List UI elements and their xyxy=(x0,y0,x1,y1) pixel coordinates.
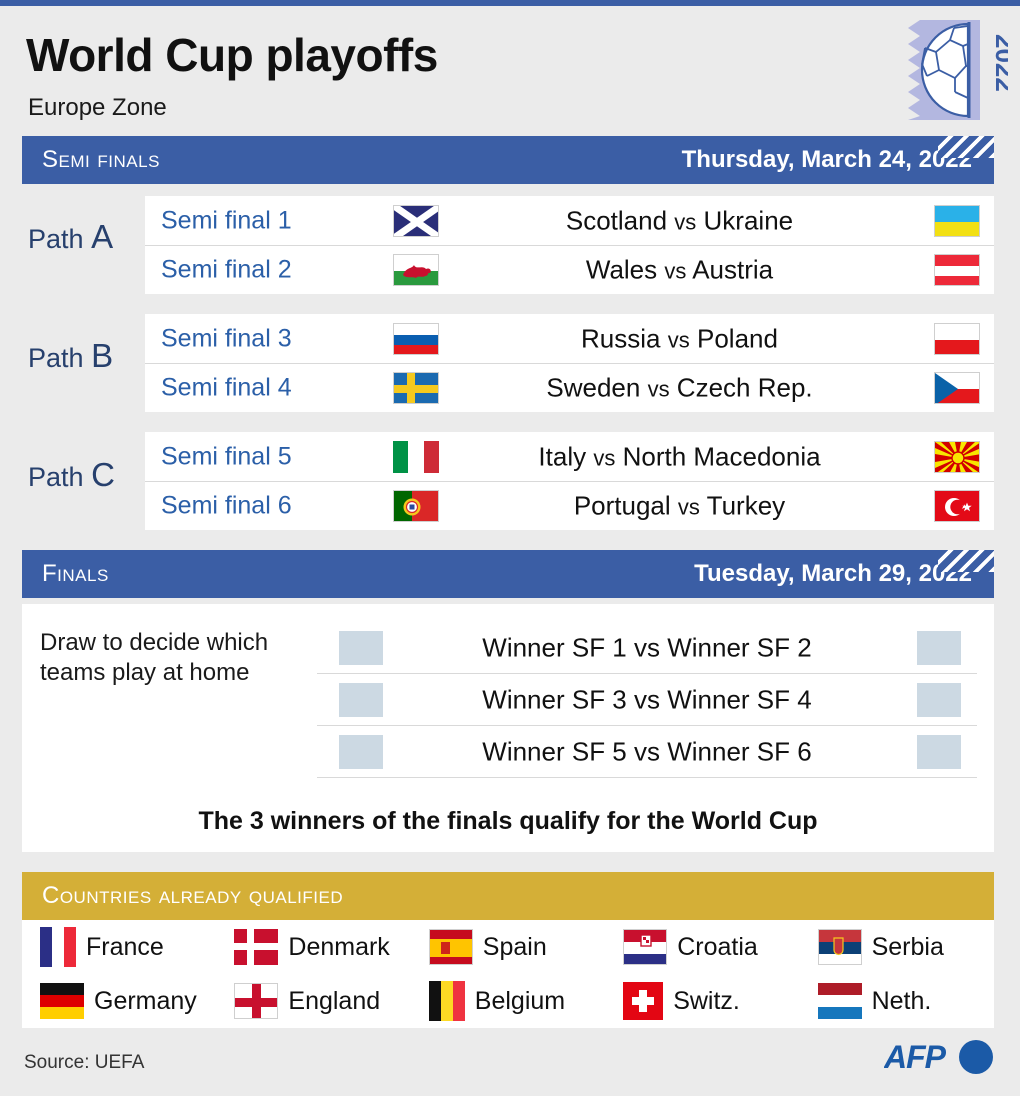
country-name: Belgium xyxy=(475,987,565,1016)
qatar-2022-worldcup-logo-icon: 2022 xyxy=(908,18,1008,122)
qualified-country-germany[interactable]: Germany xyxy=(22,983,216,1019)
russia-flag-icon xyxy=(393,323,439,355)
france-flag-icon xyxy=(40,927,76,967)
match-row[interactable]: Semi final 5 Italy vs North Macedonia xyxy=(145,432,994,481)
country-name: Croatia xyxy=(677,933,758,962)
away-team: Czech Rep. xyxy=(677,373,813,403)
finals-section-header: Finals Tuesday, March 29, 2022 xyxy=(22,550,994,598)
wales-flag-icon xyxy=(393,254,439,286)
qualified-country-spain[interactable]: Spain xyxy=(411,929,605,965)
match-text: Scotland vs Ukraine xyxy=(445,205,914,236)
match-text: Italy vs North Macedonia xyxy=(445,441,914,472)
qualified-country-belgium[interactable]: Belgium xyxy=(411,981,605,1021)
vs-label: vs xyxy=(668,327,690,352)
country-name: England xyxy=(288,987,380,1016)
svg-text:2022: 2022 xyxy=(990,34,1008,92)
qualified-panel: France Denmark xyxy=(22,920,994,1028)
qualified-country-england[interactable]: England xyxy=(216,983,410,1019)
afp-logo: AFP xyxy=(884,1038,996,1078)
path-word-a: Path xyxy=(28,224,84,254)
match-row[interactable]: Semi final 2 Wales vs Austria xyxy=(145,245,994,294)
spain-flag-icon xyxy=(429,929,473,965)
country-name: Serbia xyxy=(872,933,944,962)
belgium-flag-icon xyxy=(429,981,465,1021)
denmark-flag-icon xyxy=(234,929,278,965)
match-text: Russia vs Poland xyxy=(445,323,914,354)
match-row[interactable]: Semi final 3 Russia vs Poland xyxy=(145,314,994,363)
qualified-country-croatia[interactable]: Croatia xyxy=(605,929,799,965)
away-team: Ukraine xyxy=(704,205,794,235)
home-team: Scotland xyxy=(566,205,667,235)
vs-label: vs xyxy=(678,495,700,520)
away-team: Poland xyxy=(697,323,778,353)
away-team: Austria xyxy=(692,255,773,285)
vs-label: vs xyxy=(648,377,670,402)
vs-label: vs xyxy=(674,209,696,234)
czech-republic-flag-icon xyxy=(934,372,980,404)
home-team: Portugal xyxy=(574,491,671,521)
qualified-country-switzerland[interactable]: Switz. xyxy=(605,982,799,1020)
path-label-c: Path C xyxy=(28,456,115,494)
qualified-country-france[interactable]: France xyxy=(22,927,216,967)
turkey-flag-icon xyxy=(934,490,980,522)
away-team-placeholder xyxy=(917,683,961,717)
final-matchup: Winner SF 1 vs Winner SF 2 xyxy=(397,632,897,663)
path-label-b: Path B xyxy=(28,337,113,375)
finals-label: Finals xyxy=(42,560,109,588)
svg-text:AFP: AFP xyxy=(884,1039,947,1075)
finals-date: Tuesday, March 29, 2022 xyxy=(694,560,972,588)
match-row[interactable]: Semi final 6 Portugal vs Turkey xyxy=(145,481,994,530)
path-word-c: Path xyxy=(28,462,84,492)
match-text: Wales vs Austria xyxy=(445,255,914,286)
north-macedonia-flag-icon xyxy=(934,441,980,473)
country-name: Neth. xyxy=(872,987,932,1016)
netherlands-flag-icon xyxy=(818,983,862,1019)
qualified-country-denmark[interactable]: Denmark xyxy=(216,929,410,965)
qualified-country-netherlands[interactable]: Neth. xyxy=(800,983,994,1019)
finals-list: Winner SF 1 vs Winner SF 2 Winner SF 3 v… xyxy=(317,622,977,778)
semifinals-label: Semi finals xyxy=(42,146,160,174)
home-team-placeholder xyxy=(339,631,383,665)
path-c-card: Semi final 5 Italy vs North Macedonia xyxy=(145,432,994,530)
finals-panel: Draw to decide which teams play at home … xyxy=(22,604,994,852)
away-team: North Macedonia xyxy=(623,441,821,471)
source-text: Source: UEFA xyxy=(24,1052,144,1074)
away-team: Turkey xyxy=(707,491,786,521)
infographic-root: World Cup playoffs Europe Zone xyxy=(0,0,1020,1096)
qualified-section-header: Countries already qualified xyxy=(22,872,994,920)
header: World Cup playoffs Europe Zone xyxy=(0,6,1020,128)
draw-note: Draw to decide which teams play at home xyxy=(40,628,270,688)
croatia-flag-icon xyxy=(623,929,667,965)
qualified-label: Countries already qualified xyxy=(42,882,343,910)
germany-flag-icon xyxy=(40,983,84,1019)
path-letter-b: B xyxy=(91,337,113,374)
semifinal-label: Semi final 1 xyxy=(161,206,292,235)
qualify-note: The 3 winners of the finals qualify for … xyxy=(22,807,994,836)
home-team: Russia xyxy=(581,323,660,353)
away-team-placeholder xyxy=(917,631,961,665)
hatch-decoration-icon xyxy=(938,136,994,158)
path-word-b: Path xyxy=(28,343,84,373)
match-text: Portugal vs Turkey xyxy=(445,491,914,522)
match-row[interactable]: Semi final 4 Sweden vs Czech Rep. xyxy=(145,363,994,412)
country-name: Switz. xyxy=(673,987,740,1016)
match-text: Sweden vs Czech Rep. xyxy=(445,373,914,404)
hatch-decoration-icon xyxy=(938,550,994,572)
home-team-placeholder xyxy=(339,683,383,717)
page-title: World Cup playoffs xyxy=(26,28,438,82)
semifinals-section-header: Semi finals Thursday, March 24, 2022 xyxy=(22,136,994,184)
path-a-card: Semi final 1 Scotland vs Ukraine xyxy=(145,196,994,294)
final-matchup: Winner SF 5 vs Winner SF 6 xyxy=(397,736,897,767)
country-name: Germany xyxy=(94,987,197,1016)
england-flag-icon xyxy=(234,983,278,1019)
vs-label: vs xyxy=(664,259,686,284)
country-name: Denmark xyxy=(288,933,389,962)
page-subtitle: Europe Zone xyxy=(28,94,167,122)
path-letter-a: A xyxy=(91,218,113,255)
austria-flag-icon xyxy=(934,254,980,286)
country-name: Spain xyxy=(483,933,547,962)
final-row[interactable]: Winner SF 5 vs Winner SF 6 xyxy=(317,726,977,778)
home-team: Italy xyxy=(538,441,586,471)
semifinal-label: Semi final 4 xyxy=(161,374,292,403)
home-team-placeholder xyxy=(339,735,383,769)
final-matchup: Winner SF 3 vs Winner SF 4 xyxy=(397,684,897,715)
country-name: France xyxy=(86,933,164,962)
semifinal-label: Semi final 6 xyxy=(161,492,292,521)
match-row[interactable]: Semi final 1 Scotland vs Ukraine xyxy=(145,196,994,245)
qualified-country-serbia[interactable]: Serbia xyxy=(800,929,994,965)
path-b-card: Semi final 3 Russia vs Poland xyxy=(145,314,994,412)
scotland-flag-icon xyxy=(393,205,439,237)
away-team-placeholder xyxy=(917,735,961,769)
path-letter-c: C xyxy=(91,456,115,493)
home-team: Wales xyxy=(586,255,657,285)
final-row[interactable]: Winner SF 1 vs Winner SF 2 xyxy=(317,622,977,674)
semifinal-label: Semi final 5 xyxy=(161,442,292,471)
portugal-flag-icon xyxy=(393,490,439,522)
poland-flag-icon xyxy=(934,323,980,355)
serbia-flag-icon xyxy=(818,929,862,965)
semifinal-label: Semi final 3 xyxy=(161,324,292,353)
vs-label: vs xyxy=(593,445,615,470)
qualified-grid: France Denmark xyxy=(22,920,994,1028)
italy-flag-icon xyxy=(393,441,439,473)
switzerland-flag-icon xyxy=(623,982,663,1020)
semifinals-date: Thursday, March 24, 2022 xyxy=(682,146,972,174)
ukraine-flag-icon xyxy=(934,205,980,237)
sweden-flag-icon xyxy=(393,372,439,404)
semifinal-label: Semi final 2 xyxy=(161,256,292,285)
path-label-a: Path A xyxy=(28,218,113,256)
final-row[interactable]: Winner SF 3 vs Winner SF 4 xyxy=(317,674,977,726)
home-team: Sweden xyxy=(546,373,640,403)
